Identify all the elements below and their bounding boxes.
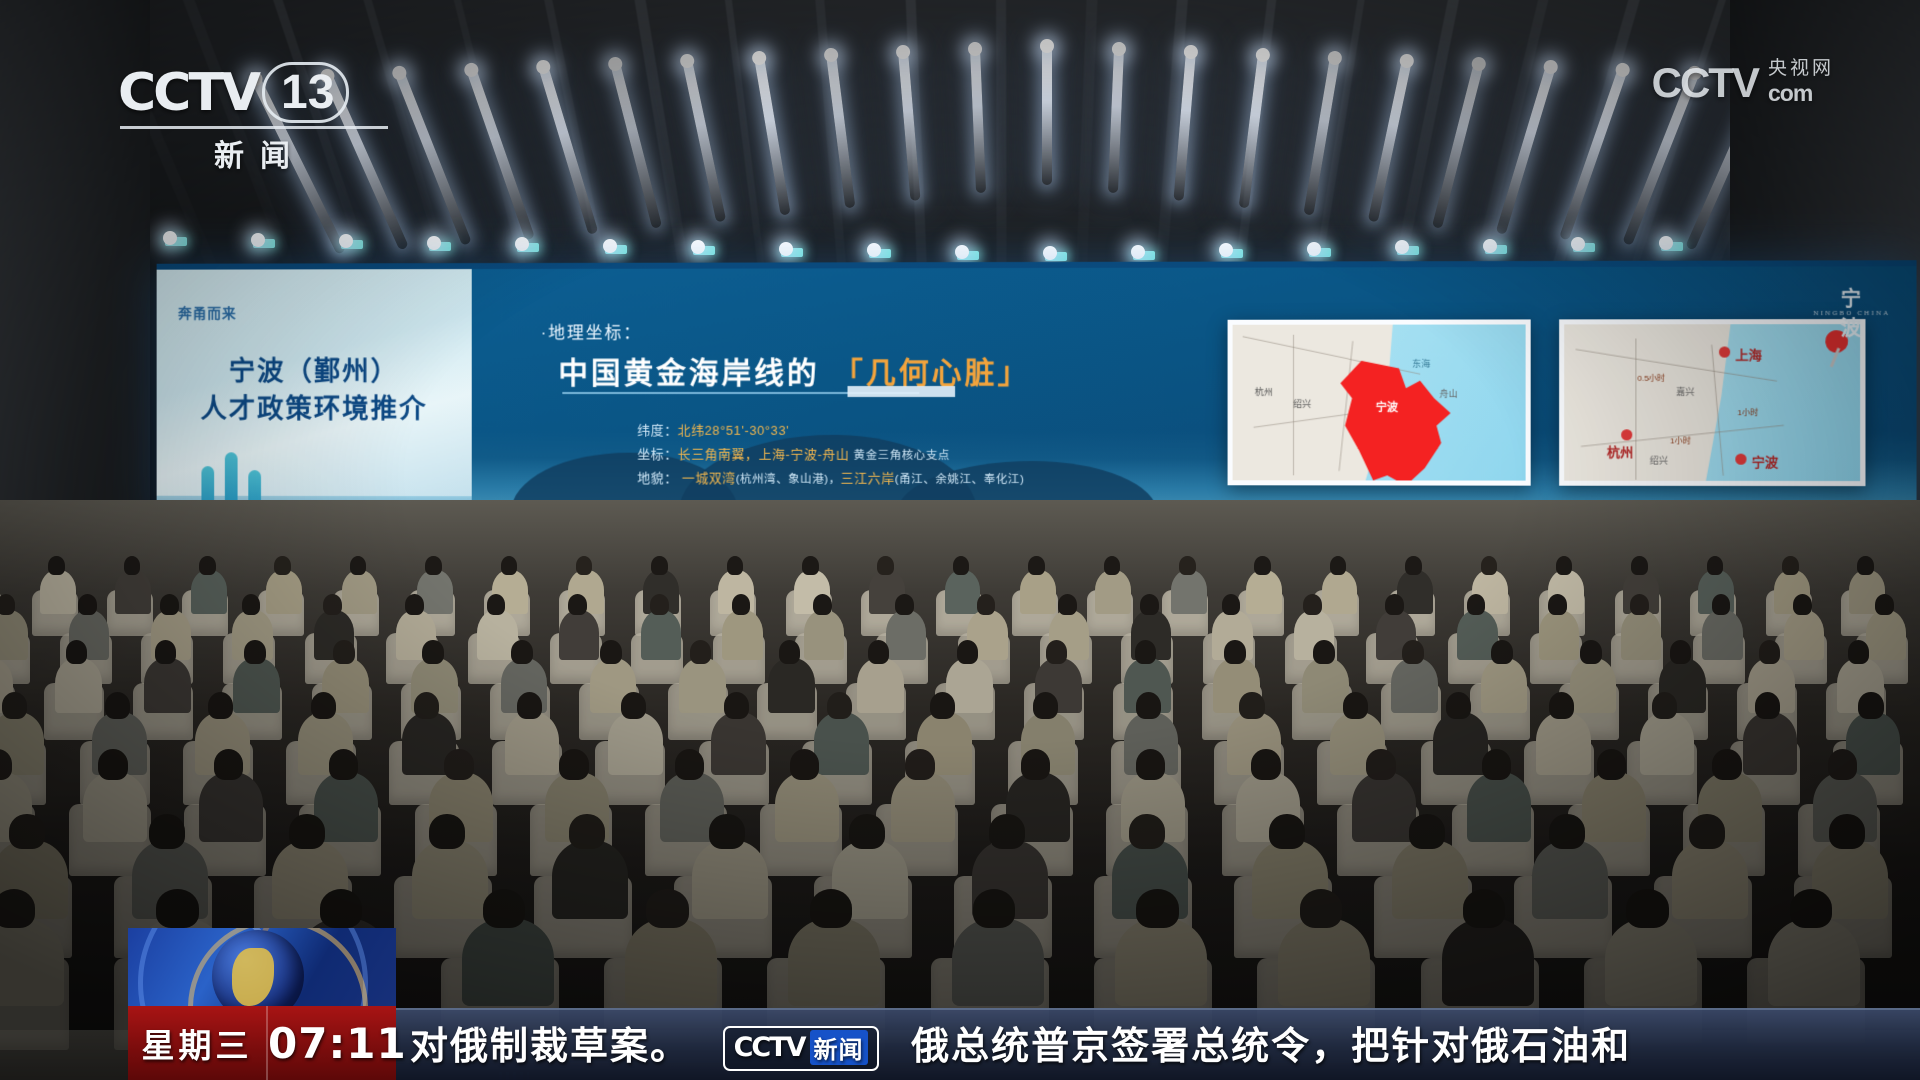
audience-head (1848, 640, 1870, 664)
audience-member (233, 658, 280, 713)
detail-tail-3b: (甬江、余姚江、奉化江) (895, 474, 1025, 486)
map1-city-label-shaoxing: 绍兴 (1293, 397, 1311, 410)
channel-logo-cctv: CCTV (118, 63, 258, 123)
audience-head (1549, 692, 1574, 719)
led-marker (1045, 252, 1067, 261)
audience-head (9, 814, 44, 848)
audience-head (868, 640, 890, 664)
audience-head (1689, 814, 1724, 848)
detail-value-3a: 一城双湾 (682, 471, 736, 486)
audience-head (199, 556, 216, 575)
audience-head (1556, 556, 1573, 575)
watermark-text: 央视网 com (1768, 58, 1834, 108)
audience-head (1179, 556, 1196, 575)
audience-head (802, 556, 819, 575)
slide-headline-prefix: 中国黄金海岸线的 (558, 356, 819, 391)
audience-head (2, 692, 27, 719)
watermark-cctv: CCTV (1652, 59, 1758, 107)
detail-value-2: 长三角南翼，上海-宁波-舟山 (678, 447, 850, 462)
slide-detail-row-2: 坐标：长三角南翼，上海-宁波-舟山 黄金三角核心支点 (637, 444, 950, 463)
audience-member (679, 658, 726, 713)
audience-member (1278, 918, 1370, 1006)
audience-member (608, 712, 663, 775)
audience-member (1866, 610, 1907, 660)
ningbo-brand-logo: 宁 NINGBO CHINA 波 (1813, 289, 1890, 339)
watermark-cn: 央视网 (1768, 58, 1834, 80)
audience-member (891, 772, 955, 842)
ticker-text-before: 对俄制裁草案。 (410, 1026, 690, 1068)
audience-member (1467, 772, 1531, 842)
audience-head (1446, 692, 1471, 719)
audience-head (568, 594, 587, 616)
audience-member (641, 610, 682, 660)
ningbo-logo-en: NINGBO CHINA (1813, 310, 1890, 317)
audience-head (1580, 640, 1602, 664)
audience-member (1481, 658, 1528, 713)
audience-member (1784, 610, 1825, 660)
audience-head (1652, 692, 1677, 719)
map2-label-shanghai: 上海 (1735, 344, 1762, 363)
led-marker (1309, 248, 1331, 257)
audience-member (804, 610, 845, 660)
slide-kicker: 奔甬而来 (178, 303, 237, 323)
audience-head (1136, 749, 1165, 779)
channel-logo-bar (120, 126, 388, 129)
audience-head (0, 889, 35, 927)
audience-head (1269, 814, 1304, 848)
audience-head (1251, 749, 1280, 779)
audience-head (1626, 889, 1668, 927)
audience-head (1790, 889, 1832, 927)
ticker-cctv-news-badge: CCTV 新闻 (723, 1026, 879, 1071)
audience-member (0, 610, 28, 660)
audience-head (1254, 556, 1271, 575)
audience-head (333, 640, 355, 664)
audience-head (827, 692, 852, 719)
audience-head (1033, 692, 1058, 719)
audience-head (214, 749, 243, 779)
audience-head (1405, 556, 1422, 575)
clock-time: 07:11 (268, 1006, 407, 1080)
audience-head (1463, 889, 1505, 927)
slide-underline-chip (848, 386, 956, 397)
slide-title-line2: 人才政策环境推介 (157, 390, 472, 428)
audience-head (1670, 640, 1692, 664)
audience-head (569, 814, 604, 848)
led-marker (165, 237, 187, 246)
audience-head (1136, 889, 1178, 927)
audience-head (877, 556, 894, 575)
map1-sea-label: 东海 (1412, 357, 1430, 370)
audience-head (1239, 692, 1264, 719)
audience-head (895, 594, 914, 616)
audience-head (429, 814, 464, 848)
audience-head (1409, 814, 1444, 848)
audience-member (1020, 570, 1056, 614)
audience-member (1768, 918, 1860, 1006)
led-marker (341, 240, 363, 249)
clock-bar: 星期三 07:11 (128, 1006, 396, 1080)
audience-head (1828, 749, 1857, 779)
audience-head (1402, 640, 1424, 664)
audience-head (483, 889, 525, 927)
audience-head (1343, 692, 1368, 719)
audience-head (646, 889, 688, 927)
led-marker (517, 243, 539, 252)
audience-head (1135, 640, 1157, 664)
map2-dot-ningbo (1735, 454, 1746, 465)
cctv-com-watermark: CCTV 央视网 com (1652, 58, 1834, 108)
audience-member (266, 570, 302, 614)
audience-head (1707, 556, 1724, 575)
audience-head (709, 814, 744, 848)
slide-bullet-label: ·地理坐标： (541, 318, 642, 343)
led-marker (693, 246, 715, 255)
map1-city-label-zhoushan: 舟山 (1439, 387, 1457, 400)
clock-day-label: 星期三 (128, 1006, 268, 1080)
audience-head (1366, 749, 1395, 779)
audience-head (66, 640, 88, 664)
audience-member (1582, 772, 1646, 842)
audience-head (156, 889, 198, 927)
audience-head (977, 594, 996, 616)
map2-time-3: 1小时 (1670, 435, 1691, 446)
audience-head (405, 594, 424, 616)
audience-member (1246, 570, 1282, 614)
audience-member (342, 570, 378, 614)
audience-head (311, 692, 336, 719)
ticker-scroll-text: 对俄制裁草案。 CCTV 新闻 俄总统普京签署总统令，把针对俄石油和 (410, 1015, 1631, 1071)
audience-head (149, 814, 184, 848)
audience-head (517, 692, 542, 719)
audience-head (1631, 556, 1648, 575)
detail-label-1: 纬度： (637, 423, 677, 438)
map2-dot-hangzhou (1621, 429, 1632, 440)
audience-member (1743, 712, 1798, 775)
audience-head (790, 749, 819, 779)
led-marker (1221, 249, 1243, 258)
audience-head (1857, 556, 1874, 575)
audience-head (244, 640, 266, 664)
audience-member (40, 570, 76, 614)
audience-head (1712, 594, 1731, 616)
audience-head (1467, 594, 1486, 616)
clock-globe-graphic (128, 928, 396, 1006)
audience-head (1875, 594, 1894, 616)
map2-road (1635, 338, 1636, 479)
audience-head (425, 556, 442, 575)
watermark-domain: com (1768, 80, 1834, 107)
audience-head (1549, 814, 1584, 848)
slide-main-panel: ·地理坐标： 中国黄金海岸线的 「几何心脏」 纬度：北纬28°51'-30°33… (472, 266, 1917, 524)
audience-head (1782, 556, 1799, 575)
audience-member (692, 840, 768, 919)
audience-head (511, 640, 533, 664)
audience-head (1385, 594, 1404, 616)
audience-head (105, 692, 130, 719)
map2-label-ningbo: 宁波 (1752, 452, 1779, 471)
map2-time-1: 0.5小时 (1637, 373, 1665, 384)
audience-head (1140, 594, 1159, 616)
audience-member (191, 570, 227, 614)
audience-head (651, 556, 668, 575)
ningbo-logo-cn2: 波 (1813, 318, 1890, 339)
audience-member (775, 772, 839, 842)
led-marker (1661, 242, 1683, 251)
audience-member (1171, 570, 1207, 614)
detail-label-3: 地貌： (637, 471, 677, 486)
audience-head (559, 749, 588, 779)
channel-logo-name: 新闻 (118, 131, 388, 175)
audience-member (1539, 610, 1580, 660)
audience-head (1021, 749, 1050, 779)
audience-member (462, 918, 554, 1006)
audience-head (1046, 640, 1068, 664)
clock-widget: 星期三 07:11 (128, 928, 396, 1080)
audience-head (732, 594, 751, 616)
audience-head (155, 640, 177, 664)
audience-head (1548, 594, 1567, 616)
audience-member (1532, 840, 1608, 919)
audience-head (690, 640, 712, 664)
map-travel-times: 上海 杭州 宁波 嘉兴 绍兴 0.5小时 1小时 1小时 (1559, 319, 1865, 486)
audience-member (711, 712, 766, 775)
slide-title: 宁波（鄞州） 人才政策环境推介 (157, 352, 472, 428)
audience-member (412, 840, 488, 919)
map2-label-hangzhou: 杭州 (1607, 441, 1633, 460)
audience-head (1491, 640, 1513, 664)
audience-member (199, 772, 263, 842)
audience-head (1755, 692, 1780, 719)
audience-member (1621, 610, 1662, 660)
audience-head (1129, 814, 1164, 848)
led-marker (605, 245, 627, 254)
map2-time-2: 1小时 (1737, 407, 1758, 418)
audience-head (953, 556, 970, 575)
audience-member (1352, 772, 1416, 842)
slide-detail-row-3: 地貌： 一城双湾(杭州湾、象山港)，三江六岸(甬江、余姚江、奉化江) (637, 468, 1024, 487)
audience-head (487, 594, 506, 616)
audience-head (1482, 749, 1511, 779)
led-marker (1133, 251, 1155, 260)
audience-head (501, 556, 518, 575)
led-marker (869, 249, 891, 258)
slide-left-panel: 奔甬而来 宁波（鄞州） 人才政策环境推介 (157, 269, 472, 522)
audience-head (160, 594, 179, 616)
audience-member (559, 610, 600, 660)
audience-head (813, 594, 832, 616)
audience-head (930, 692, 955, 719)
ticker-text-after: 俄总统普京签署总统令，把针对俄石油和 (911, 1026, 1631, 1068)
audience-member (788, 918, 880, 1006)
audience-member (1391, 658, 1438, 713)
audience-head (727, 556, 744, 575)
audience-head (1136, 692, 1161, 719)
audience-head (1759, 640, 1781, 664)
audience-head (1028, 556, 1045, 575)
audience-member (857, 658, 904, 713)
map1-city-label-hangzhou: 杭州 (1255, 385, 1273, 398)
map-ningbo-region: 杭州 绍兴 舟山 东海 宁波 (1228, 319, 1531, 485)
audience-head (1712, 749, 1741, 779)
audience-member (1322, 570, 1358, 614)
audience-member (952, 918, 1044, 1006)
ticker-badge-news: 新闻 (810, 1030, 868, 1065)
led-marker (1397, 246, 1419, 255)
audience-head (1313, 640, 1335, 664)
audience-head (724, 692, 749, 719)
audience-member (1605, 918, 1697, 1006)
audience-head (1330, 556, 1347, 575)
audience-head (124, 556, 141, 575)
audience-head (1303, 594, 1322, 616)
audience-head (1300, 889, 1342, 927)
audience-head (675, 749, 704, 779)
audience-head (1222, 594, 1241, 616)
detail-value-3b: 三江六岸 (841, 471, 895, 486)
audience-head (329, 749, 358, 779)
audience-member (505, 712, 560, 775)
audience-member (1640, 712, 1695, 775)
audience-head (289, 814, 324, 848)
channel-logo-number: 13 (262, 62, 349, 123)
audience-head (320, 889, 362, 927)
audience-member (1702, 610, 1743, 660)
detail-tail-2: 黄金三角核心支点 (854, 450, 950, 462)
audience-head (48, 556, 65, 575)
audience-head (1224, 640, 1246, 664)
detail-label-2: 坐标： (637, 447, 677, 462)
audience-member (768, 658, 815, 713)
audience-head (989, 814, 1024, 848)
audience-member (83, 772, 147, 842)
channel-logo: CCTV 13 新闻 (118, 62, 388, 175)
audience-member (1672, 840, 1748, 919)
map2-label-jiaxing: 嘉兴 (1676, 385, 1694, 398)
audience-member (1442, 918, 1534, 1006)
audience-member (1115, 918, 1207, 1006)
detail-value-1: 北纬28°51'-30°33' (678, 423, 790, 438)
slide-title-line1: 宁波（鄞州） (157, 352, 472, 390)
audience-head (849, 814, 884, 848)
audience-member (945, 570, 981, 614)
led-marker (1573, 243, 1595, 252)
audience-head (323, 594, 342, 616)
audience-member (144, 658, 191, 713)
audience-member (115, 570, 151, 614)
audience-head (1104, 556, 1121, 575)
audience-head (1858, 692, 1883, 719)
audience-member (1570, 658, 1617, 713)
audience-head (1793, 594, 1812, 616)
led-marker (957, 251, 979, 260)
audience-member (814, 712, 869, 775)
led-marker (1485, 245, 1507, 254)
ningbo-logo-cn1: 宁 (1813, 289, 1890, 310)
slide-headline: 中国黄金海岸线的 「几何心脏」 (558, 348, 1030, 392)
audience-head (1829, 814, 1864, 848)
map2-label-shaoxing: 绍兴 (1650, 454, 1668, 467)
audience-head (600, 640, 622, 664)
led-video-wall: 奔甬而来 宁波（鄞州） 人才政策环境推介 ·地理坐标： 中国黄金海岸线的 「几何… (157, 260, 1917, 532)
audience-head (414, 692, 439, 719)
ticker-badge-cctv: CCTV (734, 1032, 805, 1063)
audience-head (621, 692, 646, 719)
audience-head (1597, 749, 1626, 779)
audience-member (722, 610, 763, 660)
detail-tail-3a: (杭州湾、象山港)， (736, 474, 841, 486)
audience-member (55, 658, 102, 713)
audience-head (650, 594, 669, 616)
map1-region-label: 宁波 (1376, 399, 1398, 415)
led-marker (253, 239, 275, 248)
audience-member (1433, 712, 1488, 775)
led-marker (781, 248, 803, 257)
audience-head (973, 889, 1015, 927)
audience-head (350, 556, 367, 575)
audience-member (1536, 712, 1591, 775)
audience-head (1630, 594, 1649, 616)
led-marker (429, 242, 451, 251)
audience-head (779, 640, 801, 664)
audience-head (422, 640, 444, 664)
audience-head (1481, 556, 1498, 575)
audience-member (886, 610, 927, 660)
audience-member (1392, 840, 1468, 919)
audience-head (905, 749, 934, 779)
audience-head (444, 749, 473, 779)
audience-head (810, 889, 852, 927)
map2-dot-shanghai (1719, 346, 1730, 357)
slide-detail-row-1: 纬度：北纬28°51'-30°33' (637, 420, 789, 439)
broadcast-frame: 奔甬而来 宁波（鄞州） 人才政策环境推介 ·地理坐标： 中国黄金海岸线的 「几何… (0, 0, 1920, 1080)
audience-head (274, 556, 291, 575)
audience-head (98, 749, 127, 779)
audience-member (625, 918, 717, 1006)
audience-member (552, 840, 628, 919)
audience-member (1095, 570, 1131, 614)
audience-head (957, 640, 979, 664)
audience-head (242, 594, 261, 616)
audience-head (576, 556, 593, 575)
audience-head (78, 594, 97, 616)
audience-head (1058, 594, 1077, 616)
audience-head (0, 594, 15, 616)
audience-head (208, 692, 233, 719)
